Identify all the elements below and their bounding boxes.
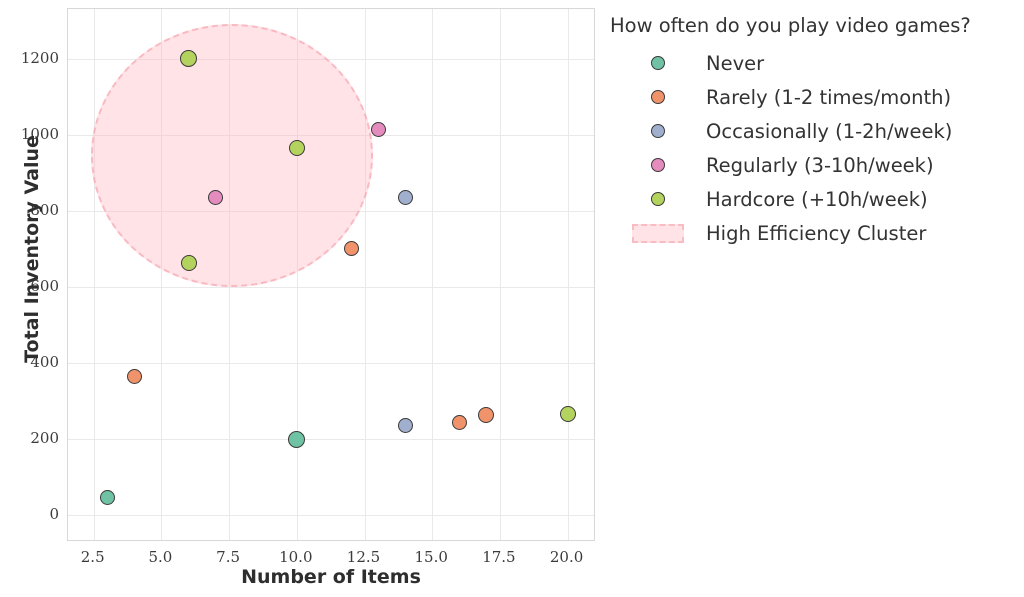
legend-dot-icon xyxy=(651,90,665,104)
data-point xyxy=(288,431,305,448)
gridline-vertical xyxy=(568,9,569,540)
y-tick-label: 200 xyxy=(30,429,59,447)
legend-dot-icon xyxy=(651,124,665,138)
data-point xyxy=(398,418,413,433)
data-point xyxy=(452,415,467,430)
gridline-horizontal xyxy=(68,287,594,288)
legend: How often do you play video games? Never… xyxy=(610,14,1020,250)
x-tick-label: 17.5 xyxy=(482,548,515,566)
data-point xyxy=(180,50,197,67)
legend-dot-icon xyxy=(651,192,665,206)
legend-dot-icon xyxy=(651,56,665,70)
data-point xyxy=(100,490,115,505)
x-tick-label: 20.0 xyxy=(550,548,583,566)
legend-item-label: Rarely (1-2 times/month) xyxy=(706,86,951,109)
legend-item-label: Never xyxy=(706,52,764,75)
data-point xyxy=(181,255,197,271)
legend-marker-cell xyxy=(610,224,706,243)
data-point xyxy=(208,190,223,205)
y-tick-label: 1200 xyxy=(21,49,59,67)
x-tick-label: 7.5 xyxy=(216,548,240,566)
legend-item[interactable]: Hardcore (+10h/week) xyxy=(610,182,1020,216)
gridline-horizontal xyxy=(68,439,594,440)
data-point xyxy=(478,407,494,423)
data-point xyxy=(371,122,386,137)
gridline-vertical xyxy=(94,9,95,540)
y-tick-label: 0 xyxy=(49,505,59,523)
legend-marker-cell xyxy=(610,124,706,138)
legend-item[interactable]: Rarely (1-2 times/month) xyxy=(610,80,1020,114)
data-point xyxy=(560,406,576,422)
legend-item[interactable]: High Efficiency Cluster xyxy=(610,216,1020,250)
legend-marker-cell xyxy=(610,192,706,206)
legend-marker-cell xyxy=(610,90,706,104)
legend-marker-cell xyxy=(610,56,706,70)
data-point xyxy=(398,190,413,205)
y-axis-title: Total Inventory Value xyxy=(21,99,43,399)
x-tick-label: 2.5 xyxy=(81,548,105,566)
gridline-vertical xyxy=(432,9,433,540)
legend-item[interactable]: Regularly (3-10h/week) xyxy=(610,148,1020,182)
legend-item-label: Regularly (3-10h/week) xyxy=(706,154,934,177)
plot-area xyxy=(67,8,595,541)
x-tick-label: 15.0 xyxy=(414,548,447,566)
high-efficiency-cluster-ellipse xyxy=(91,24,373,287)
gridline-horizontal xyxy=(68,363,594,364)
legend-item-label: Occasionally (1-2h/week) xyxy=(706,120,952,143)
legend-marker-cell xyxy=(610,158,706,172)
legend-item-label: High Efficiency Cluster xyxy=(706,222,926,245)
gridline-vertical xyxy=(365,9,366,540)
data-point xyxy=(289,140,305,156)
cluster-patch-icon xyxy=(632,224,684,243)
data-point xyxy=(127,369,142,384)
gridline-vertical xyxy=(500,9,501,540)
gridline-horizontal xyxy=(68,515,594,516)
legend-item[interactable]: Occasionally (1-2h/week) xyxy=(610,114,1020,148)
scatter-chart-figure: 020040060080010001200 2.55.07.510.012.51… xyxy=(0,0,1024,597)
x-tick-label: 5.0 xyxy=(148,548,172,566)
legend-item-label: Hardcore (+10h/week) xyxy=(706,188,928,211)
legend-entries: NeverRarely (1-2 times/month)Occasionall… xyxy=(610,46,1020,250)
data-point xyxy=(344,241,359,256)
x-tick-label: 12.5 xyxy=(347,548,380,566)
legend-title: How often do you play video games? xyxy=(610,14,1020,37)
legend-dot-icon xyxy=(651,158,665,172)
x-tick-label: 10.0 xyxy=(279,548,312,566)
legend-item[interactable]: Never xyxy=(610,46,1020,80)
x-axis-title: Number of Items xyxy=(67,566,595,588)
